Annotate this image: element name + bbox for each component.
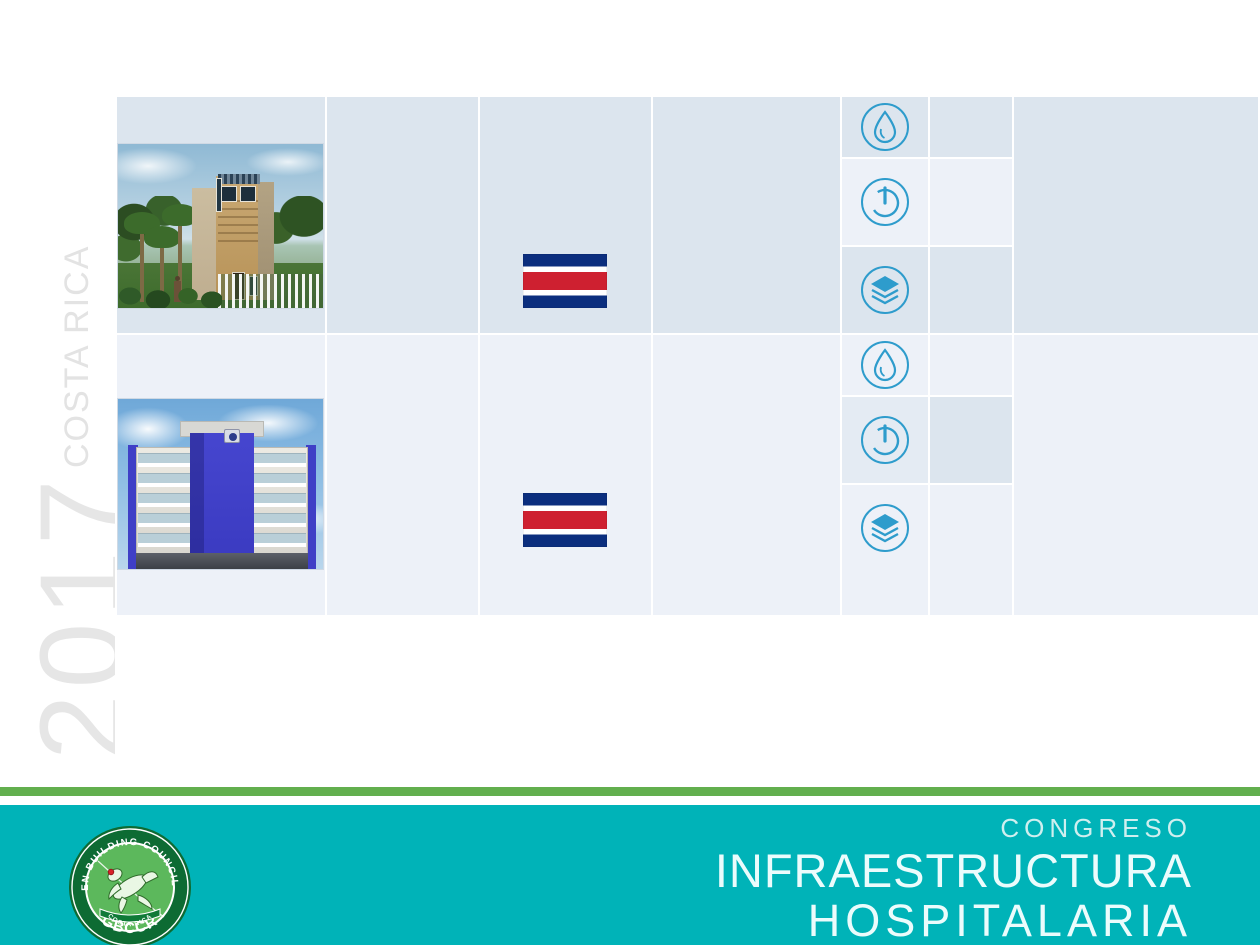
notes-cell <box>1014 97 1258 333</box>
congress-line-3: HOSPITALARIA <box>715 898 1192 943</box>
congress-wordmark: CONGRESO INFRAESTRUCTURA HOSPITALARIA <box>715 815 1192 943</box>
project-photo-cell <box>117 335 325 615</box>
power-button-icon <box>859 176 911 228</box>
metric-row-energy[interactable] <box>842 159 927 245</box>
water-drop-icon <box>859 101 911 153</box>
water-drop-icon <box>859 339 911 391</box>
metric-row-materials[interactable] <box>842 485 927 571</box>
country-flag-cell <box>480 335 650 615</box>
costa-rica-flag-icon <box>523 254 607 308</box>
metric-value-water <box>930 97 1013 157</box>
metric-value-water <box>930 335 1013 395</box>
metric-value-energy <box>930 397 1013 483</box>
table-row[interactable] <box>117 335 1258 615</box>
notes-cell <box>1014 335 1258 615</box>
metric-row-materials[interactable] <box>842 247 927 333</box>
congress-line-2: INFRAESTRUCTURA <box>715 847 1192 894</box>
footer-bar: GREEN BUILDING COUNCIL C.R. GBCCR COSTA … <box>0 805 1260 945</box>
country-flag-cell <box>480 97 650 333</box>
watermark-country: COSTA RICA <box>58 245 97 468</box>
metric-value-energy <box>930 159 1013 245</box>
table-row[interactable] <box>117 97 1258 333</box>
spare-cell <box>653 335 841 615</box>
house-render-image <box>117 143 324 309</box>
congress-line-1: CONGRESO <box>715 815 1192 841</box>
metric-value-materials <box>930 247 1013 333</box>
metric-row-water[interactable] <box>842 335 927 395</box>
costa-rica-flag-icon <box>523 493 607 547</box>
power-button-icon <box>859 414 911 466</box>
green-accent-stripe <box>0 787 1260 796</box>
metric-row-energy[interactable] <box>842 397 927 483</box>
metric-icons-cell <box>842 97 927 333</box>
project-photo-cell <box>117 97 325 333</box>
side-watermark: COSTA RICA 2017 <box>0 0 115 790</box>
metric-icons-cell <box>842 335 927 615</box>
projects-comparison-table <box>115 93 1260 617</box>
spare-cell <box>653 97 841 333</box>
gbccr-logo: GREEN BUILDING COUNCIL C.R. GBCCR COSTA … <box>68 825 192 945</box>
layers-stack-icon <box>859 264 911 316</box>
layers-stack-icon <box>859 502 911 554</box>
watermark-year: 2017 <box>14 473 115 760</box>
slide-canvas: COSTA RICA 2017 <box>0 0 1260 945</box>
metric-values-cell <box>930 97 1013 333</box>
project-name-cell <box>327 335 478 615</box>
metric-value-materials <box>930 485 1013 571</box>
project-name-cell <box>327 97 478 333</box>
metric-values-cell <box>930 335 1013 615</box>
hospital-building-render-image <box>117 398 324 570</box>
metric-row-water[interactable] <box>842 97 927 157</box>
